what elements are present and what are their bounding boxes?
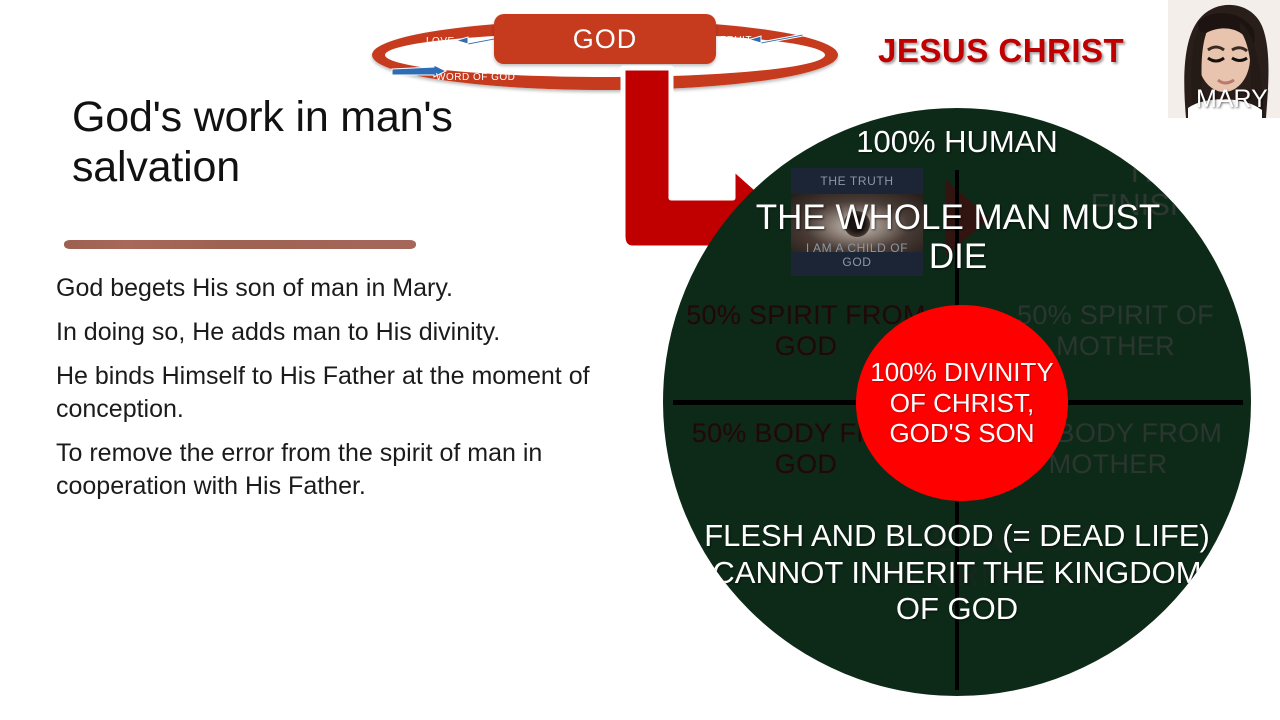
body-paragraph: He binds Himself to His Father at the mo… [56, 360, 651, 426]
page-title: God's work in man's salvation [72, 92, 542, 193]
ring-label-word-of-god: WORD OF GOD [436, 72, 515, 83]
label-100-human: 100% HUMAN [707, 124, 1207, 160]
title-divider [64, 240, 416, 249]
mary-caption: MARY [1196, 85, 1268, 114]
ring-label-love: LOVE [426, 36, 455, 47]
god-box: GOD [494, 14, 716, 64]
body-copy: God begets His son of man in Mary. In do… [56, 272, 651, 514]
quadrant-line-left [673, 400, 863, 405]
jesus-christ-circle-diagram: IT IS FINISHED THE LAW OF INHERITANCE 50… [663, 108, 1251, 696]
body-paragraph: God begets His son of man in Mary. [56, 272, 651, 305]
truth-card-top-band: THE TRUTH [791, 174, 923, 188]
divinity-circle-text: 100% DIVINITY OF CHRIST, GOD'S SON [856, 357, 1068, 449]
quadrant-line-right [1058, 400, 1243, 405]
fruit-arrow-icon [747, 32, 805, 42]
label-whole-man-must-die: THE WHOLE MAN MUST DIE [723, 198, 1193, 276]
divinity-circle: 100% DIVINITY OF CHRIST, GOD'S SON [856, 305, 1068, 501]
body-paragraph: To remove the error from the spirit of m… [56, 437, 651, 503]
jesus-christ-heading: JESUS CHRIST [878, 32, 1124, 70]
label-flesh-and-blood: FLESH AND BLOOD (= DEAD LIFE) CANNOT INH… [687, 518, 1227, 628]
body-paragraph: In doing so, He adds man to His divinity… [56, 316, 651, 349]
god-label: GOD [573, 24, 638, 55]
ring-label-fruit: FRUIT [720, 35, 752, 46]
